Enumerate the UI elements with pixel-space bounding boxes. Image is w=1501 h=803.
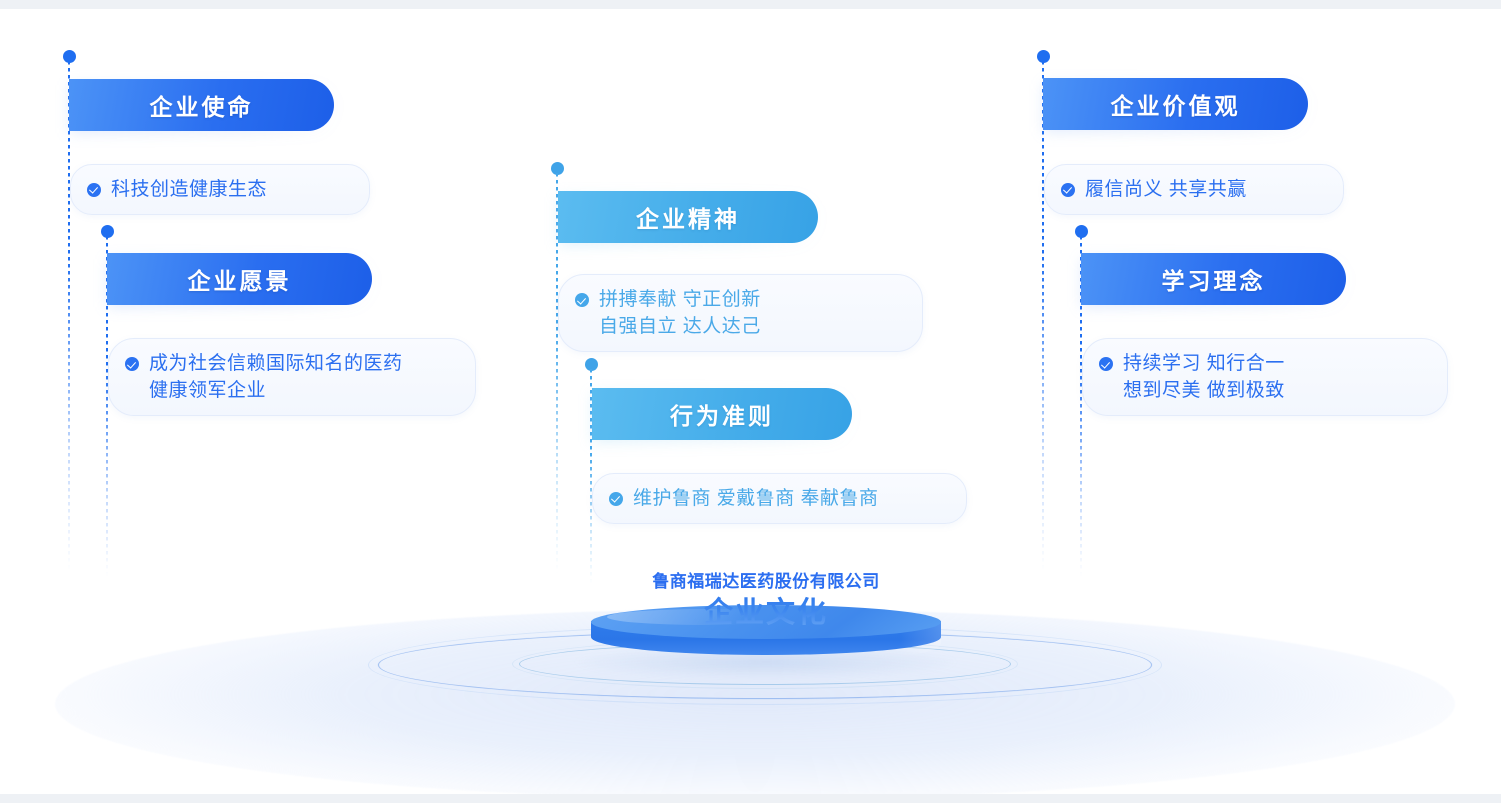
heading-pill-spirit-label: 企业精神: [636, 200, 740, 234]
check-icon: [575, 293, 589, 307]
heading-pill-values[interactable]: 企业价值观: [1043, 78, 1308, 130]
content-card-spirit[interactable]: 拼搏奉献 守正创新 自强自立 达人达己: [558, 274, 923, 352]
content-card-mission[interactable]: 科技创造健康生态: [70, 164, 370, 215]
content-card-conduct[interactable]: 维护鲁商 爱戴鲁商 奉献鲁商: [592, 473, 967, 524]
content-card-learning-text: 持续学习 知行合一 想到尽美 做到极致: [1123, 350, 1285, 404]
heading-pill-learning-label: 学习理念: [1162, 262, 1266, 296]
heading-pill-vision-label: 企业愿景: [188, 262, 292, 296]
content-card-conduct-text: 维护鲁商 爱戴鲁商 奉献鲁商: [633, 485, 879, 512]
heading-pill-mission-label: 企业使命: [150, 88, 254, 122]
content-card-values[interactable]: 履信尚义 共享共赢: [1044, 164, 1344, 215]
check-icon: [87, 183, 101, 197]
content-card-learning[interactable]: 持续学习 知行合一 想到尽美 做到极致: [1082, 338, 1448, 416]
timeline-line-mission: [68, 61, 70, 571]
heading-pill-spirit[interactable]: 企业精神: [558, 191, 818, 243]
podium-cylinder: [591, 605, 941, 661]
content-card-spirit-text: 拼搏奉献 守正创新 自强自立 达人达己: [599, 286, 761, 340]
company-name: 鲁商福瑞达医药股份有限公司: [560, 571, 972, 593]
content-card-mission-text: 科技创造健康生态: [111, 176, 267, 203]
check-icon: [1099, 357, 1113, 371]
timeline-line-values: [1042, 61, 1044, 571]
heading-pill-conduct-label: 行为准则: [670, 397, 774, 431]
check-icon: [125, 357, 139, 371]
heading-pill-mission[interactable]: 企业使命: [69, 79, 334, 131]
page-frame: 鲁商福瑞达医药股份有限公司 企业文化 企业使命 科技创造健康生态: [0, 0, 1501, 803]
podium-top-face: [591, 605, 941, 639]
heading-pill-learning[interactable]: 学习理念: [1081, 253, 1346, 305]
check-icon: [1061, 183, 1075, 197]
content-card-values-text: 履信尚义 共享共赢: [1085, 176, 1247, 203]
infographic-canvas: 鲁商福瑞达医药股份有限公司 企业文化 企业使命 科技创造健康生态: [0, 9, 1501, 794]
content-card-vision-text: 成为社会信赖国际知名的医药 健康领军企业: [149, 350, 403, 404]
check-icon: [609, 492, 623, 506]
heading-pill-conduct[interactable]: 行为准则: [592, 388, 852, 440]
heading-pill-vision[interactable]: 企业愿景: [107, 253, 372, 305]
heading-pill-values-label: 企业价值观: [1111, 87, 1241, 121]
content-card-vision[interactable]: 成为社会信赖国际知名的医药 健康领军企业: [108, 338, 476, 416]
